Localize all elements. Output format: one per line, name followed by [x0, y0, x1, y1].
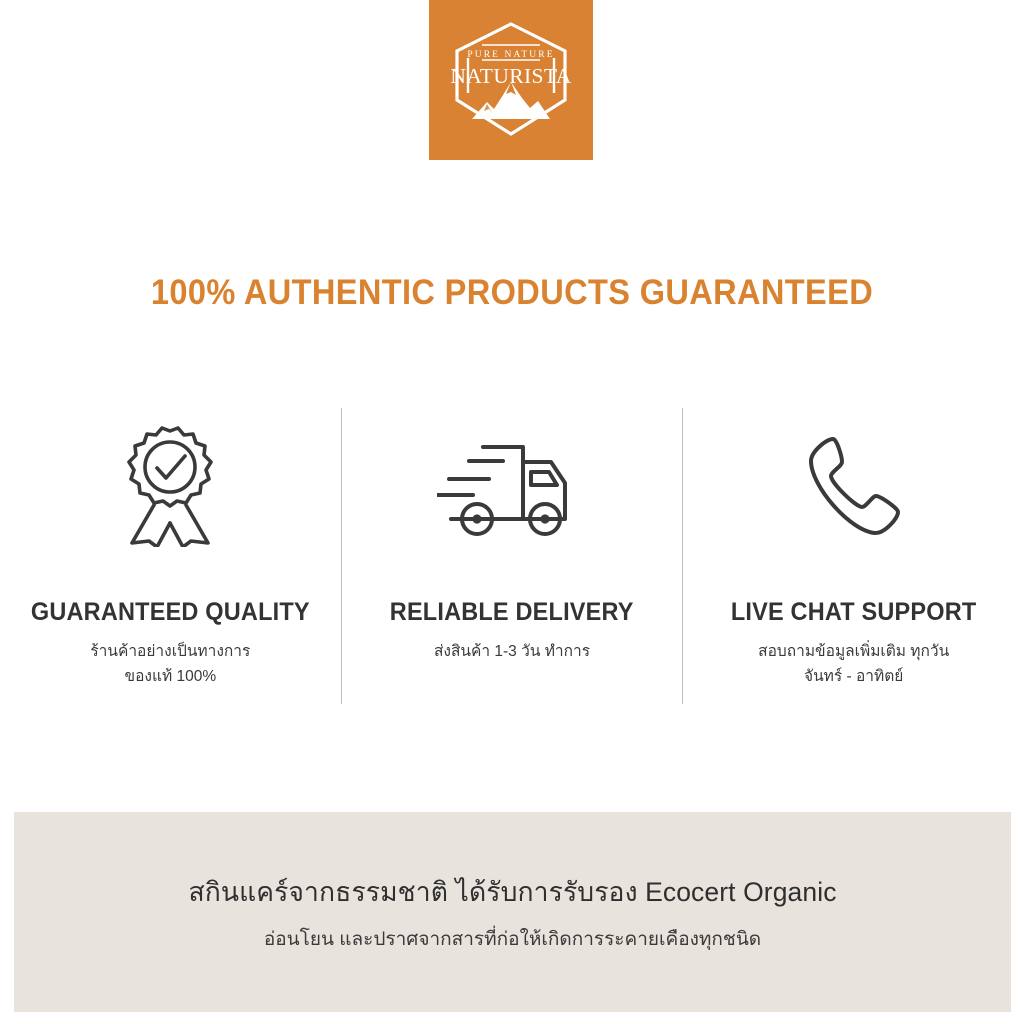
feature-title: RELIABLE DELIVERY: [390, 598, 634, 627]
feature-subtitle: ส่งสินค้า 1-3 วัน ทำการ: [434, 639, 590, 664]
feature-reliable-delivery: RELIABLE DELIVERY ส่งสินค้า 1-3 วัน ทำกา…: [342, 408, 683, 704]
brand-logo: PURE NATURE NATURISTA: [429, 0, 593, 160]
feature-guaranteed-quality: GUARANTEED QUALITY ร้านค้าอย่างเป็นทางกา…: [0, 408, 341, 704]
award-ribbon-icon: [118, 416, 222, 556]
certification-banner: สกินแคร์จากธรรมชาติ ได้รับการรับรอง Ecoc…: [14, 812, 1011, 1012]
feature-subtitle-line2: จันทร์ - อาทิตย์: [758, 664, 949, 689]
delivery-truck-icon: [437, 416, 587, 556]
feature-subtitle-line2: ของแท้ 100%: [90, 664, 250, 689]
phone-handset-icon: [802, 416, 906, 556]
feature-row: GUARANTEED QUALITY ร้านค้าอย่างเป็นทางกา…: [0, 408, 1024, 704]
feature-live-chat-support: LIVE CHAT SUPPORT สอบถามข้อมูลเพิ่มเติม …: [683, 408, 1024, 704]
logo-tagline-text: PURE NATURE: [467, 50, 554, 60]
banner-subtext: อ่อนโยน และปราศจากสารที่ก่อให้เกิดการระค…: [264, 924, 761, 954]
banner-headline: สกินแคร์จากธรรมชาติ ได้รับการรับรอง Ecoc…: [188, 871, 836, 913]
feature-subtitle-line1: ร้านค้าอย่างเป็นทางการ: [90, 639, 250, 664]
feature-title: GUARANTEED QUALITY: [31, 598, 310, 627]
feature-subtitle: สอบถามข้อมูลเพิ่มเติม ทุกวัน จันทร์ - อา…: [758, 639, 949, 689]
page-headline: 100% AUTHENTIC PRODUCTS GUARANTEED: [36, 273, 988, 313]
feature-subtitle-line1: ส่งสินค้า 1-3 วัน ทำการ: [434, 639, 590, 664]
feature-subtitle-line1: สอบถามข้อมูลเพิ่มเติม ทุกวัน: [758, 639, 949, 664]
feature-subtitle: ร้านค้าอย่างเป็นทางการ ของแท้ 100%: [90, 639, 250, 689]
feature-title: LIVE CHAT SUPPORT: [731, 598, 977, 627]
naturista-logo-mark: PURE NATURE NATURISTA: [446, 16, 576, 144]
